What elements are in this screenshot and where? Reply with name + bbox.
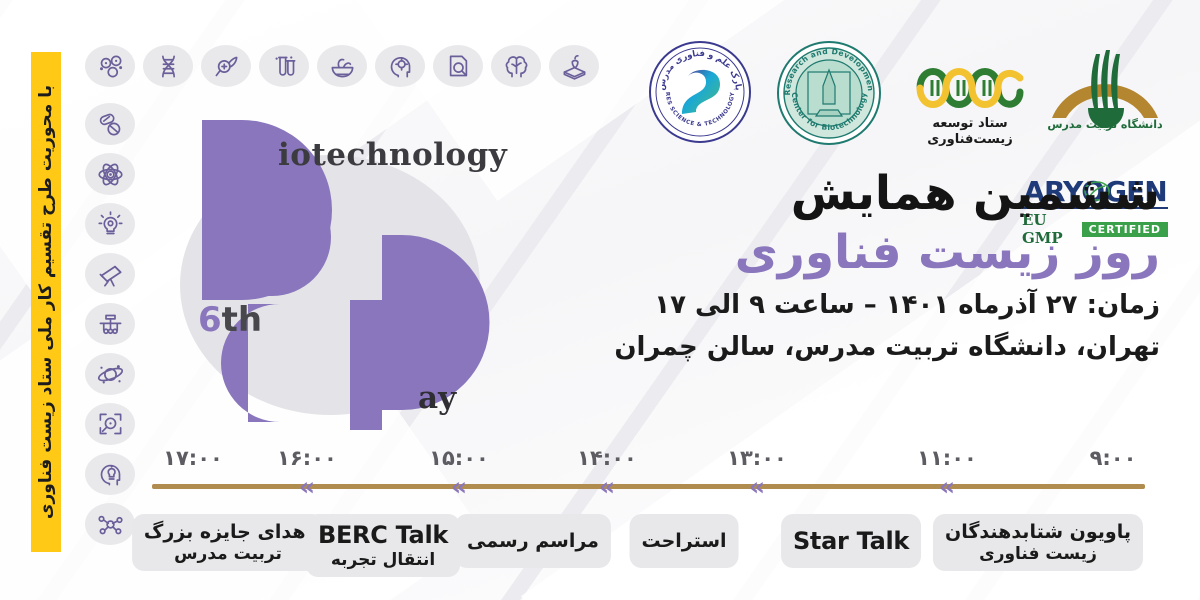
timeline-session-chip[interactable]: مراسم رسمی [455,514,611,568]
leaf-magnifier-icon-glyph [213,53,240,80]
session-title: BERC Talk [318,521,448,550]
poster-root: با محوریت طرح تقسیم کار ملی ستاد زیست فن… [0,0,1200,600]
timeline-time-label: ۱۶:۰۰ [277,446,337,470]
session-title: مراسم رسمی [467,530,599,553]
telescope-icon [85,253,135,295]
session-subtitle: انتقال تجربه [331,550,435,570]
logo-edition-suffix: th [222,300,262,340]
logo-edition-number: 6 [198,300,222,340]
session-subtitle: تربیت مدرس [174,544,282,564]
molecule-icon [85,45,135,87]
lightbulb-gear-icon [85,203,135,245]
atom-icon [85,153,135,195]
timeline-session-chip[interactable]: Star Talk [781,514,921,568]
telescope-icon-glyph [97,261,124,288]
salad-bowl-icon [317,45,367,87]
leaf-magnifier-icon [201,45,251,87]
planet-icon [85,353,135,395]
biotech-hq-caption-line1: ستاد توسعه [912,116,1028,132]
biotech-hq-caption-line2: زیست‌فناوری [912,132,1028,148]
page-subtitle: روز زیست فناوری [540,224,1160,283]
brain-icon [491,45,541,87]
logo-biotechnology-development-headquarters: ستاد توسعه زیست‌فناوری [912,58,1028,120]
schedule-timeline: ۱۷:۰۰۱۶:۰۰«۱۵:۰۰«۱۴:۰۰«۱۳:۰۰«۱۱:۰۰«۹:۰۰ … [0,440,1200,600]
event-date-line: زمان: ۲۷ آذرماه ۱۴۰۱ – ساعت ۹ الی ۱۷ [540,288,1160,323]
timeline-session-chip[interactable]: پاویون شتابدهندگانزیست فناوری [933,514,1143,571]
apple-book-icon-glyph [561,53,588,80]
timeline-chevron-marker-icon: « [599,474,615,499]
apple-book-icon [549,45,599,87]
timeline-session-chip[interactable]: استراحت [629,514,738,568]
biotechnology-day-logo: iotechnology ay 6th [150,110,520,440]
head-gear-icon-glyph [387,53,414,80]
headline-block: ششمین همایش روز زیست فناوری زمان: ۲۷ آذر… [540,168,1160,365]
logo-modares-science-technology-park: پارک علم و فناوری مدرس MODARES SCIENCE &… [648,40,752,148]
timeline-time-label: ۱۴:۰۰ [577,446,637,470]
timeline-time-label: ۹:۰۰ [1090,446,1137,470]
timeline-session-chip[interactable]: اهدای جایزه بزرگتربیت مدرس [132,514,324,571]
timeline-session-chip[interactable]: BERC Talkانتقال تجربه [306,514,460,577]
page-title: ششمین همایش [540,168,1160,220]
salad-bowl-icon-glyph [329,53,356,80]
timeline-time-label: ۱۳:۰۰ [727,446,787,470]
logo-word-day: ay [418,380,456,416]
document-search-icon [433,45,483,87]
magnifier-frame-icon [85,403,135,445]
document-search-icon-glyph [445,53,472,80]
capsule-pills-icon [85,103,135,145]
logo-research-development-center-biotechnology: Research and Development Center for Biot… [776,40,882,150]
molecule-icon-glyph [97,53,124,80]
timeline-chevron-marker-icon: « [749,474,765,499]
head-gear-icon [375,45,425,87]
session-title: Star Talk [793,527,909,556]
dna-icon-glyph [155,53,182,80]
session-title: اهدای جایزه بزرگ [144,521,312,544]
session-title: پاویون شتابدهندگان [945,521,1131,544]
timeline-time-label: ۱۵:۰۰ [429,446,489,470]
rd-biotech-emblem-icon: Research and Development Center for Biot… [776,40,882,146]
timeline-chevron-marker-icon: « [299,474,315,499]
tarbiat-modares-emblem-icon: دانشگاه تربیت مدرس [1040,42,1170,134]
session-subtitle: زیست فناوری [979,544,1097,564]
magnifier-frame-icon-glyph [97,411,124,438]
brain-icon-glyph [503,53,530,80]
timeline-chevron-marker-icon: « [451,474,467,499]
logo-word-biotechnology: iotechnology [278,137,507,173]
lab-bench-icon [85,303,135,345]
event-venue-line: تهران، دانشگاه تربیت مدرس، سالن چمران [540,330,1160,365]
biotech-hq-dna-icon [912,58,1028,116]
session-title: استراحت [641,530,726,553]
logo-tarbiat-modares-university: دانشگاه تربیت مدرس [1040,42,1170,138]
capsule-pills-icon-glyph [97,111,124,138]
test-tubes-icon [259,45,309,87]
logo-edition-label: 6th [198,300,262,340]
atom-icon-glyph [97,161,124,188]
modares-park-emblem-icon: پارک علم و فناوری مدرس MODARES SCIENCE &… [648,40,752,144]
dna-icon [143,45,193,87]
lab-bench-icon-glyph [97,311,124,338]
timeline-chevron-marker-icon: « [939,474,955,499]
planet-icon-glyph [97,361,124,388]
timeline-time-label: ۱۷:۰۰ [163,446,223,470]
timeline-time-label: ۱۱:۰۰ [917,446,977,470]
lightbulb-gear-icon-glyph [97,211,124,238]
test-tubes-icon-glyph [271,53,298,80]
tarbiat-modares-caption: دانشگاه تربیت مدرس [1047,118,1163,131]
